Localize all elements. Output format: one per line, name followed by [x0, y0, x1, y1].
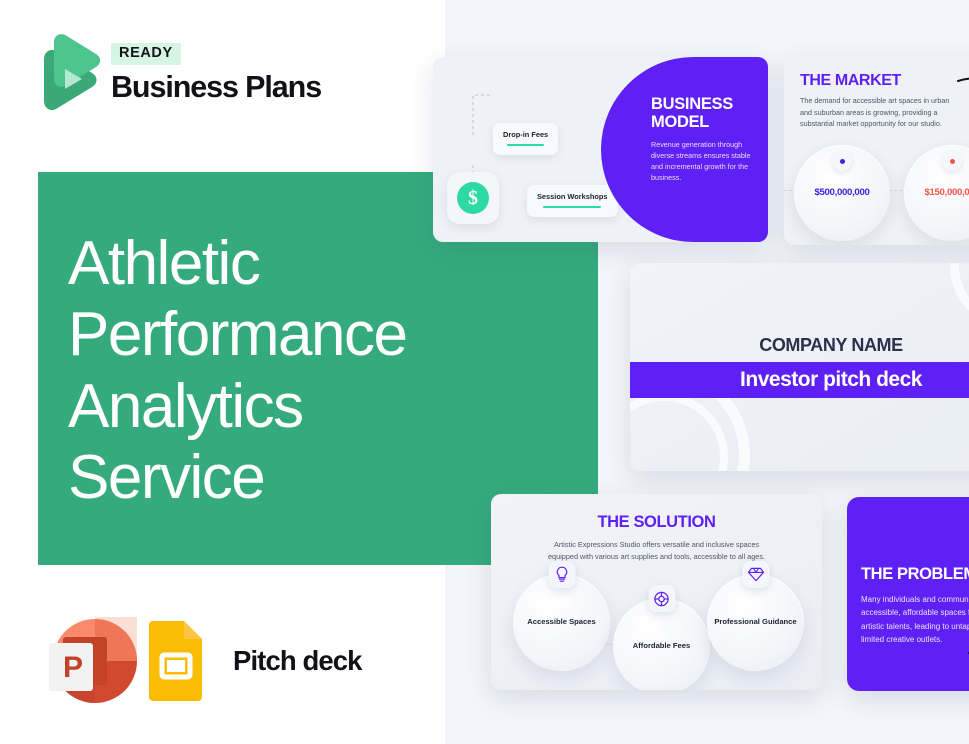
- filetype-row: P Pitch deck: [43, 617, 362, 705]
- slide-title: THE MARKET: [800, 72, 901, 90]
- diamond-icon: [742, 561, 769, 588]
- dollar-sign-icon: $: [457, 182, 489, 214]
- slide-the-problem[interactable]: THE PROBLEM Many individuals and communi…: [847, 497, 969, 691]
- metric-amount: $150,000,000: [904, 187, 969, 198]
- solution-bubble: Affordable Fees: [613, 598, 710, 690]
- hero-title-line-1: Athletic: [68, 228, 488, 299]
- solution-node-label: Affordable Fees: [633, 641, 690, 652]
- metric-dot-cap: [942, 151, 962, 171]
- solution-node[interactable]: Professional Guidance: [707, 574, 804, 671]
- slide-business-model[interactable]: $ Drop-in Fees Session Workshops Commiss…: [433, 57, 768, 242]
- powerpoint-icon[interactable]: P: [43, 617, 137, 705]
- revenue-stream-label: Session Workshops: [537, 192, 608, 201]
- hero-title-line-3: Analytics: [68, 371, 488, 442]
- brand-logo[interactable]: READY Business Plans: [38, 33, 321, 113]
- slide-body-text: Many individuals and communities lack ac…: [861, 593, 969, 647]
- play-triangle-logo-icon: [38, 33, 100, 113]
- curved-arrow-icon: [956, 75, 969, 128]
- market-metric: $150,000,000 Serviceable Addressable Mar…: [896, 145, 969, 245]
- revenue-stream-chip[interactable]: Drop-in Fees: [493, 123, 558, 155]
- hero-title: Athletic Performance Analytics Service: [68, 228, 488, 513]
- solution-node[interactable]: Affordable Fees: [613, 598, 710, 690]
- slide-title: THE SOLUTION: [491, 513, 822, 532]
- solution-node-label: Accessible Spaces: [527, 617, 595, 628]
- solution-bubble: Accessible Spaces: [513, 574, 610, 671]
- pitch-deck-promo-canvas: READY Business Plans Athletic Performanc…: [0, 0, 969, 744]
- cover-title-band: Investor pitch deck: [630, 362, 969, 398]
- metric-dot-icon: [950, 159, 955, 164]
- revenue-stream-chip[interactable]: Session Workshops: [527, 185, 618, 217]
- slide-body-text: The demand for accessible art spaces in …: [800, 95, 955, 130]
- slide-title: THE PROBLEM: [861, 565, 969, 584]
- solution-node-label: Professional Guidance: [714, 617, 796, 628]
- slide-title: BUSINESS MODEL: [651, 95, 763, 132]
- filetype-label: Pitch deck: [233, 645, 362, 677]
- slide-body-text: Revenue generation through diverse strea…: [651, 140, 763, 184]
- slide-cover[interactable]: COMPANY NAME Investor pitch deck: [630, 263, 969, 471]
- svg-text:P: P: [63, 651, 83, 684]
- ready-badge: READY: [111, 43, 181, 64]
- revenue-stream-label: Drop-in Fees: [503, 130, 548, 139]
- chip-accent-bar: [507, 144, 544, 146]
- market-metric: $500,000,000 Total Addressable Market (T…: [786, 145, 898, 245]
- slide-the-solution[interactable]: THE SOLUTION Artistic Expressions Studio…: [491, 494, 822, 690]
- brand-logo-text: READY Business Plans: [111, 41, 321, 104]
- revenue-hub-tile: $: [447, 172, 499, 224]
- metric-dot-icon: [840, 159, 845, 164]
- solution-bubble: Professional Guidance: [707, 574, 804, 671]
- company-name: COMPANY NAME: [630, 335, 969, 356]
- metric-disc: $150,000,000: [904, 145, 969, 241]
- lightbulb-icon: [548, 561, 575, 588]
- brand-name: Business Plans: [111, 70, 321, 105]
- metric-amount: $500,000,000: [794, 187, 890, 198]
- solution-node[interactable]: Accessible Spaces: [513, 574, 610, 671]
- cover-subtitle: Investor pitch deck: [740, 368, 922, 392]
- chip-accent-bar: [543, 206, 601, 208]
- slide-body-text: Artistic Expressions Studio offers versa…: [541, 539, 772, 562]
- metric-dot-cap: [832, 151, 852, 171]
- google-slides-icon[interactable]: [143, 621, 209, 701]
- slide-the-market[interactable]: THE MARKET The demand for accessible art…: [784, 57, 969, 245]
- hero-title-line-2: Performance: [68, 299, 488, 370]
- decorative-ring: [950, 263, 969, 327]
- hero-title-line-4: Service: [68, 442, 488, 513]
- metric-disc: $500,000,000: [794, 145, 890, 241]
- target-icon: [648, 585, 675, 612]
